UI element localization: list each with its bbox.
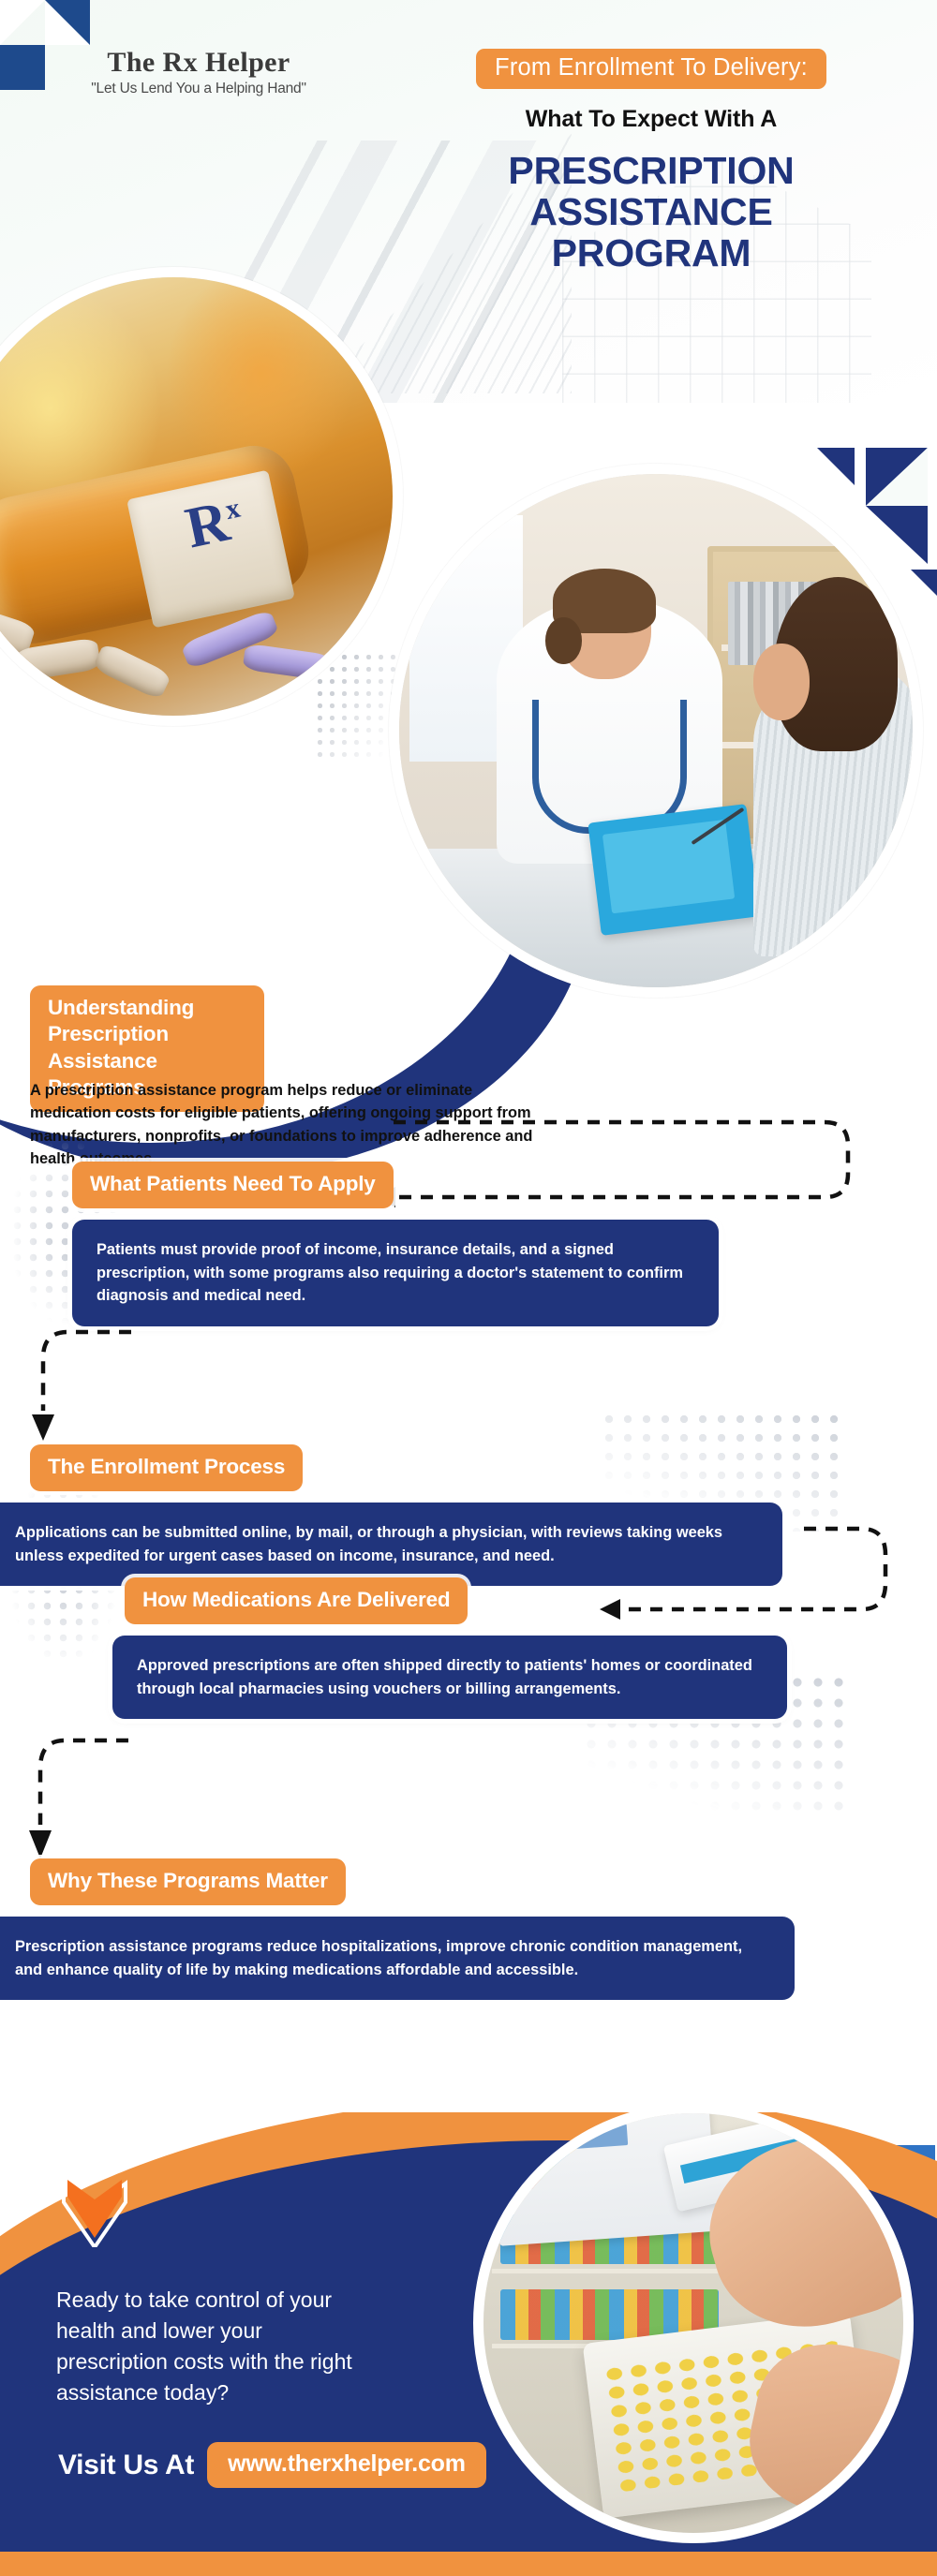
section-body-2: Patients must provide proof of income, i…: [72, 1220, 719, 1326]
section-body-4: Approved prescriptions are often shipped…: [112, 1636, 787, 1719]
connector-arrow-2: [28, 1321, 150, 1447]
page-title-line-1: PRESCRIPTION: [412, 150, 890, 191]
connector-arrow-4: [23, 1729, 145, 1865]
section-heading-5: Why These Programs Matter: [30, 1858, 346, 1905]
section-heading-2: What Patients Need To Apply: [72, 1162, 394, 1208]
infographic-page: The Rx Helper "Let Us Lend You a Helping…: [0, 0, 937, 2576]
hero-section: Rx: [0, 281, 937, 1021]
section-body-5: Prescription assistance programs reduce …: [0, 1917, 795, 2000]
page-title-line-3: PROGRAM: [412, 232, 890, 274]
photo-pharmacy-basket: [473, 2112, 914, 2543]
page-title: PRESCRIPTION ASSISTANCE PROGRAM: [412, 150, 890, 274]
visit-row: Visit Us At www.therxhelper.com: [58, 2442, 486, 2488]
footer-bottom-bar: [0, 2552, 937, 2576]
brand-logo: The Rx Helper "Let Us Lend You a Helping…: [67, 49, 330, 97]
section-heading-4: How Medications Are Delivered: [125, 1577, 468, 1624]
content-sections: Understanding Prescription Assistance Pr…: [0, 974, 937, 2126]
logo-tagline: "Let Us Lend You a Helping Hand": [67, 81, 330, 97]
title-block: From Enrollment To Delivery: What To Exp…: [412, 49, 890, 274]
website-url-button[interactable]: www.therxhelper.com: [207, 2442, 486, 2488]
footer-cta-section: Ready to take control of your health and…: [0, 2112, 937, 2576]
section-body-3: Applications can be submitted online, by…: [0, 1503, 782, 1586]
section-body-1: A prescription assistance program helps …: [30, 1079, 555, 1170]
pill-capsules: [0, 575, 393, 706]
section-heading-3: The Enrollment Process: [30, 1444, 303, 1491]
logo-name: The Rx Helper: [67, 49, 330, 77]
cta-message: Ready to take control of your health and…: [56, 2285, 365, 2408]
header-eyebrow-badge: From Enrollment To Delivery:: [476, 49, 826, 89]
page-title-line-2: ASSISTANCE: [412, 191, 890, 232]
down-chevron-icon: [60, 2170, 129, 2247]
photo-doctor-patient-consult: [389, 464, 923, 998]
header-subheading: What To Expect With A: [412, 106, 890, 133]
photo-prescription-bottle: Rx: [0, 267, 403, 726]
visit-label: Visit Us At: [58, 2450, 194, 2481]
